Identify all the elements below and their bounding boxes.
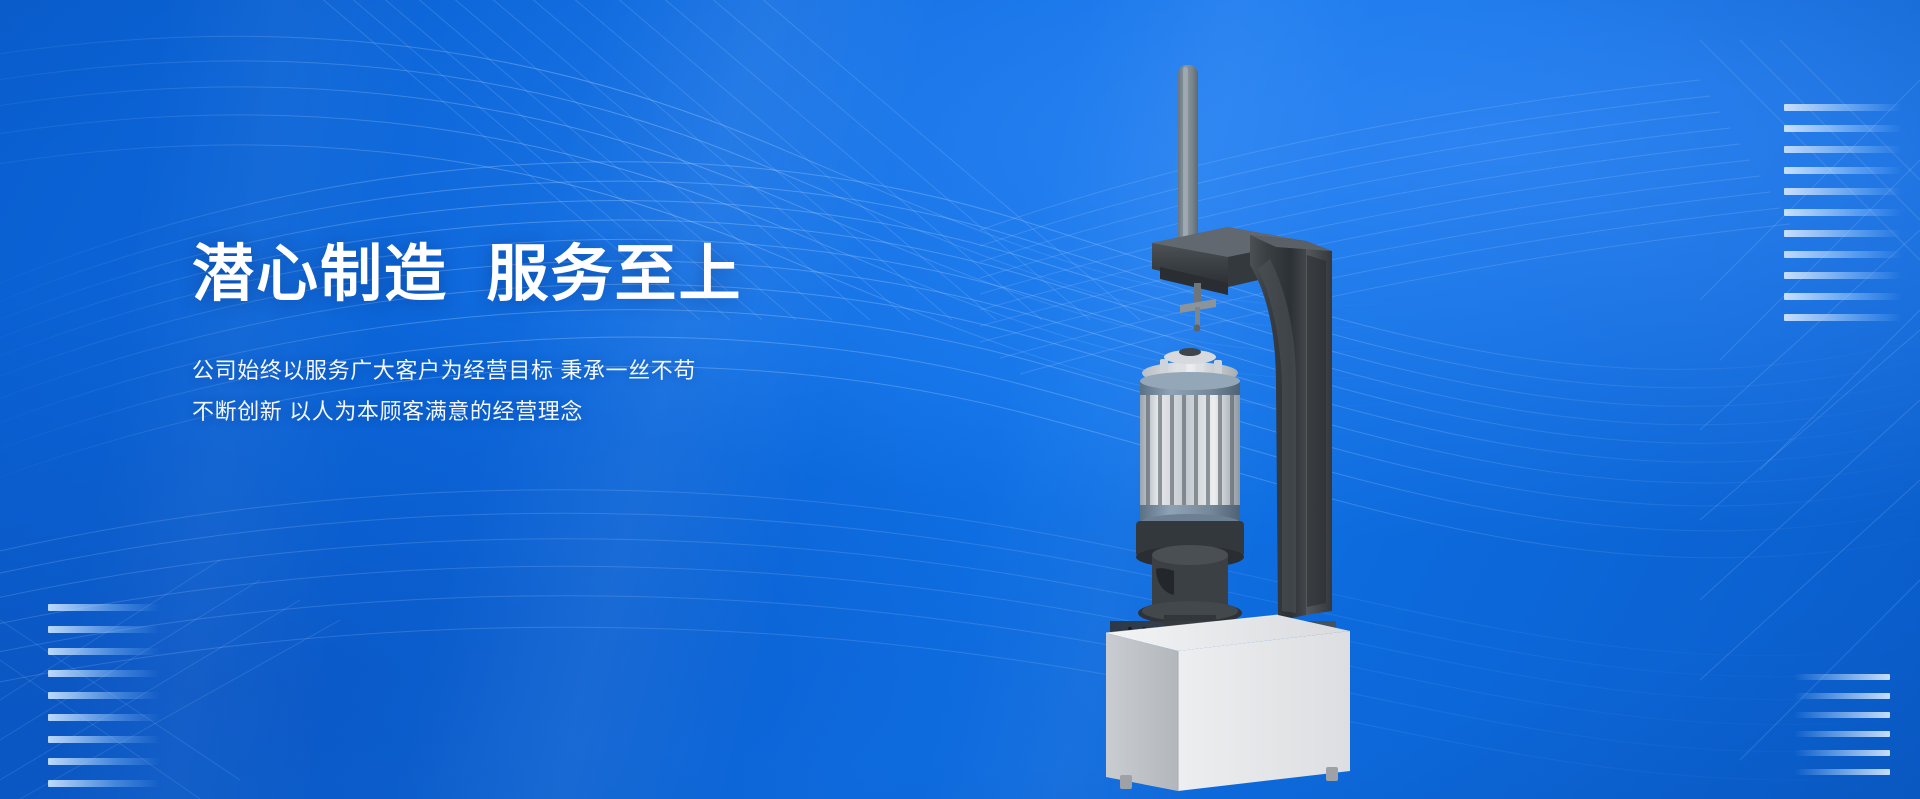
decor-bar	[48, 626, 160, 633]
decor-bar	[1784, 167, 1902, 174]
hero-copy-block: 潜心制造 服务至上 公司始终以服务广大客户为经营目标 秉承一丝不苟 不断创新 以…	[192, 240, 912, 433]
decor-bar	[48, 780, 160, 787]
decor-bar	[1784, 146, 1902, 153]
decor-bar	[1784, 314, 1902, 321]
decor-bar	[1794, 693, 1890, 699]
ribbed-cylinder-head-part	[1140, 348, 1240, 532]
decor-bar	[1784, 293, 1902, 300]
decor-bar	[48, 736, 160, 743]
decor-bar	[48, 692, 160, 699]
decor-bar	[1794, 769, 1890, 775]
hero-banner: 潜心制造 服务至上 公司始终以服务广大客户为经营目标 秉承一丝不苟 不断创新 以…	[0, 0, 1920, 799]
decor-bar	[48, 758, 160, 765]
hero-subtitle-line-2: 不断创新 以人为本顾客满意的经营理念	[192, 392, 912, 433]
decor-bar	[1794, 712, 1890, 718]
decor-bars-bottom-left	[48, 604, 160, 787]
decor-bar	[1794, 731, 1890, 737]
decor-bars-right	[1784, 104, 1902, 321]
product-machine-image	[1100, 55, 1440, 799]
decor-bars-bottom-right	[1794, 674, 1890, 775]
hero-headline: 潜心制造 服务至上	[192, 240, 912, 309]
decor-bar	[1784, 230, 1902, 237]
base-cabinet-part	[1106, 615, 1350, 791]
decor-bar	[1784, 251, 1902, 258]
decor-bar	[48, 604, 160, 611]
decor-bar	[48, 714, 160, 721]
decor-bar	[1784, 272, 1902, 279]
decor-bar	[48, 670, 160, 677]
decor-bar	[1784, 125, 1902, 132]
decor-bar	[1784, 104, 1902, 111]
decor-bar	[1784, 209, 1902, 216]
c-frame-column-part	[1250, 235, 1332, 621]
decor-bar	[1794, 674, 1890, 680]
decor-bar	[1784, 188, 1902, 195]
vertical-rod-part	[1178, 65, 1198, 255]
decor-bar	[1794, 750, 1890, 756]
hero-subtitle: 公司始终以服务广大客户为经营目标 秉承一丝不苟 不断创新 以人为本顾客满意的经营…	[192, 351, 912, 432]
hero-subtitle-line-1: 公司始终以服务广大客户为经营目标 秉承一丝不苟	[192, 351, 912, 392]
decor-bar	[48, 648, 160, 655]
